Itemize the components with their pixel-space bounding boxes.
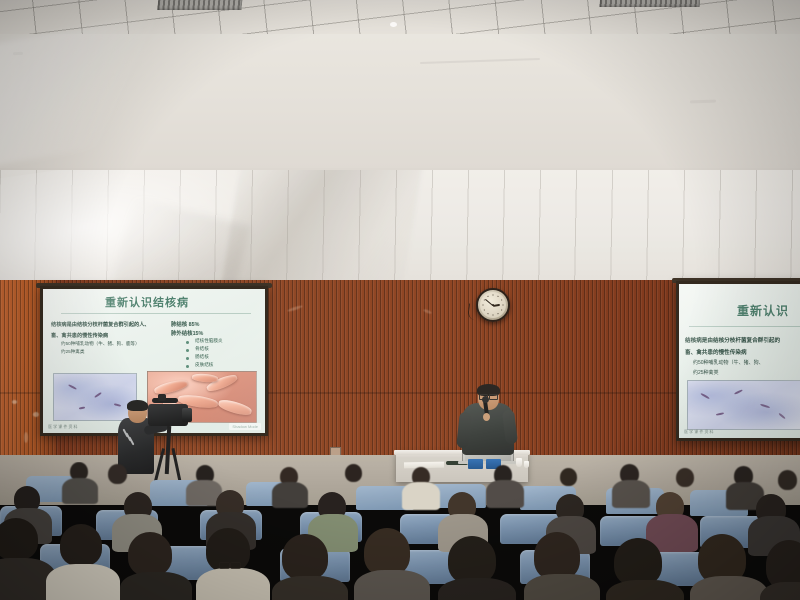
audience-body bbox=[606, 580, 684, 600]
audience-head bbox=[128, 532, 172, 576]
ceiling-highlight bbox=[390, 22, 397, 27]
wall-scuff bbox=[690, 100, 716, 104]
audience-head bbox=[60, 524, 102, 566]
audience-head bbox=[108, 464, 127, 484]
audience-body bbox=[62, 478, 98, 504]
wall-scuff bbox=[12, 400, 17, 404]
wall-scuff bbox=[420, 58, 540, 64]
audience-head bbox=[345, 464, 362, 482]
audience-body bbox=[120, 572, 192, 600]
audience-head bbox=[560, 468, 577, 486]
microphone-head bbox=[482, 396, 489, 403]
audience-body bbox=[438, 578, 516, 600]
audience-body bbox=[524, 574, 600, 600]
audience-head bbox=[448, 536, 496, 584]
audience-head bbox=[364, 528, 410, 576]
audience-head bbox=[282, 534, 328, 580]
upper-wall bbox=[0, 34, 800, 170]
audience-head bbox=[0, 518, 38, 560]
audience-body bbox=[760, 582, 800, 600]
audience-body bbox=[196, 568, 270, 600]
audience-body bbox=[272, 576, 348, 600]
lecture-hall-photo: 重新认识结核病 结核病是由结核分枝杆菌复合群引起的人、 畜、禽共患的慢性传染病 … bbox=[0, 0, 800, 600]
audience-body bbox=[354, 570, 430, 600]
paneled-wall bbox=[0, 168, 800, 285]
right-projection-screen[interactable]: 重新认识 结核病是由结核分枝杆菌复合群引起的 畜、禽共患的慢性传染病 约50种哺… bbox=[676, 281, 800, 441]
audience-body bbox=[272, 482, 308, 508]
jacket-stripe bbox=[129, 437, 135, 446]
audience-body bbox=[402, 482, 440, 510]
audience bbox=[0, 462, 800, 600]
audience-head bbox=[676, 468, 694, 487]
glasses-icon bbox=[219, 562, 241, 567]
clock-face bbox=[480, 292, 506, 318]
camera-viewfinder bbox=[158, 394, 166, 401]
audience-body bbox=[486, 480, 524, 508]
air-vent-icon bbox=[600, 0, 701, 7]
audience-body bbox=[690, 576, 768, 600]
audience-body bbox=[612, 480, 650, 508]
audience-body bbox=[46, 564, 120, 600]
screen-frame bbox=[676, 281, 800, 441]
wall-scuff bbox=[24, 432, 28, 443]
wall-scuff bbox=[33, 412, 39, 417]
audience-head bbox=[534, 532, 580, 580]
wall-clock bbox=[476, 288, 510, 322]
audience-head bbox=[614, 538, 662, 586]
audience-head bbox=[778, 470, 797, 490]
cameraman-hair bbox=[127, 400, 148, 411]
camera-lens-icon bbox=[182, 408, 192, 422]
presenter-hand bbox=[483, 413, 490, 421]
